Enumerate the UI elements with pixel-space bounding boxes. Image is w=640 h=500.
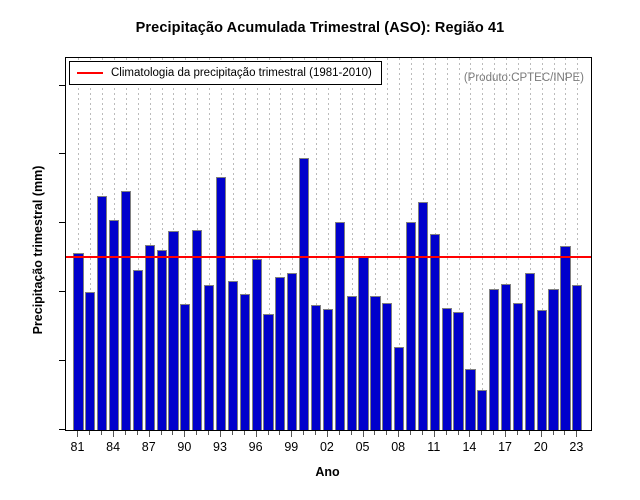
- x-tick-mark: [149, 430, 150, 437]
- x-tick-mark: [363, 430, 364, 437]
- bar: [477, 390, 487, 430]
- bar: [430, 234, 440, 430]
- bar: [228, 281, 238, 430]
- x-tick-label: 96: [249, 440, 263, 454]
- bar: [572, 285, 582, 430]
- bar: [418, 202, 428, 430]
- x-tick-mark: [469, 430, 470, 437]
- bar: [240, 294, 250, 430]
- bar: [358, 256, 368, 430]
- x-tick-mark: [77, 430, 78, 437]
- legend-line-swatch: [77, 72, 103, 74]
- x-tick-label: 99: [284, 440, 298, 454]
- chart-title: Precipitação Acumulada Trimestral (ASO):…: [0, 20, 640, 36]
- bar: [97, 196, 107, 430]
- bar: [560, 246, 570, 430]
- x-tick-label: 93: [213, 440, 227, 454]
- x-axis-label: Ano: [65, 465, 590, 479]
- x-tick-mark: [256, 430, 257, 437]
- bar: [85, 292, 95, 430]
- bar-series: [66, 58, 591, 430]
- x-tick-label: 23: [569, 440, 583, 454]
- x-tick-label: 08: [391, 440, 405, 454]
- x-tick-label: 05: [356, 440, 370, 454]
- x-tick-mark: [398, 430, 399, 437]
- x-tick-mark: [291, 430, 292, 437]
- x-tick-mark: [184, 430, 185, 437]
- x-tick-label: 81: [71, 440, 85, 454]
- bar: [525, 273, 535, 430]
- bar: [109, 220, 119, 430]
- x-tick-label: 17: [498, 440, 512, 454]
- bar: [157, 250, 167, 430]
- x-tick-mark: [576, 430, 577, 437]
- bar: [453, 312, 463, 430]
- x-tick-label: 02: [320, 440, 334, 454]
- bar: [133, 270, 143, 430]
- producer-annotation: (Produto:CPTEC/INPE): [464, 72, 584, 84]
- x-tick-label: 14: [462, 440, 476, 454]
- x-tick-label: 84: [106, 440, 120, 454]
- bar: [335, 222, 345, 430]
- bar: [323, 309, 333, 430]
- x-tick-label: 87: [142, 440, 156, 454]
- x-tick-mark: [505, 430, 506, 437]
- bar: [347, 296, 357, 430]
- bar: [275, 277, 285, 430]
- x-tick-mark: [541, 430, 542, 437]
- x-tick-mark: [327, 430, 328, 437]
- bar: [548, 289, 558, 430]
- bar: [263, 314, 273, 430]
- bar: [299, 158, 309, 430]
- bar: [311, 305, 321, 430]
- bar: [537, 310, 547, 430]
- legend-item-label: Climatologia da precipitação trimestral …: [111, 67, 372, 79]
- bar: [513, 303, 523, 430]
- climatology-reference-line: [66, 256, 591, 258]
- bar: [168, 231, 178, 430]
- bar: [145, 245, 155, 430]
- bar: [442, 308, 452, 430]
- bar: [180, 304, 190, 430]
- bar: [287, 273, 297, 430]
- bar: [406, 222, 416, 430]
- x-tick-mark: [220, 430, 221, 437]
- x-tick-label: 11: [427, 440, 440, 454]
- x-tick-label: 90: [177, 440, 191, 454]
- bar: [204, 285, 214, 430]
- bar: [121, 191, 131, 430]
- chart-figure: Precipitação Acumulada Trimestral (ASO):…: [0, 0, 640, 500]
- bar: [73, 253, 83, 430]
- bar: [465, 369, 475, 430]
- bar: [501, 284, 511, 430]
- x-tick-mark: [434, 430, 435, 437]
- bar: [489, 289, 499, 430]
- bar: [216, 177, 226, 431]
- bar: [382, 303, 392, 430]
- plot-area: [65, 57, 592, 431]
- x-tick-label: 20: [534, 440, 548, 454]
- x-tick-mark: [113, 430, 114, 437]
- bar: [370, 296, 380, 430]
- legend: Climatologia da precipitação trimestral …: [69, 61, 382, 85]
- bar: [394, 347, 404, 430]
- bar: [192, 230, 202, 430]
- bar: [252, 259, 262, 430]
- y-axis-label: Precipitação trimestral (mm): [31, 100, 45, 400]
